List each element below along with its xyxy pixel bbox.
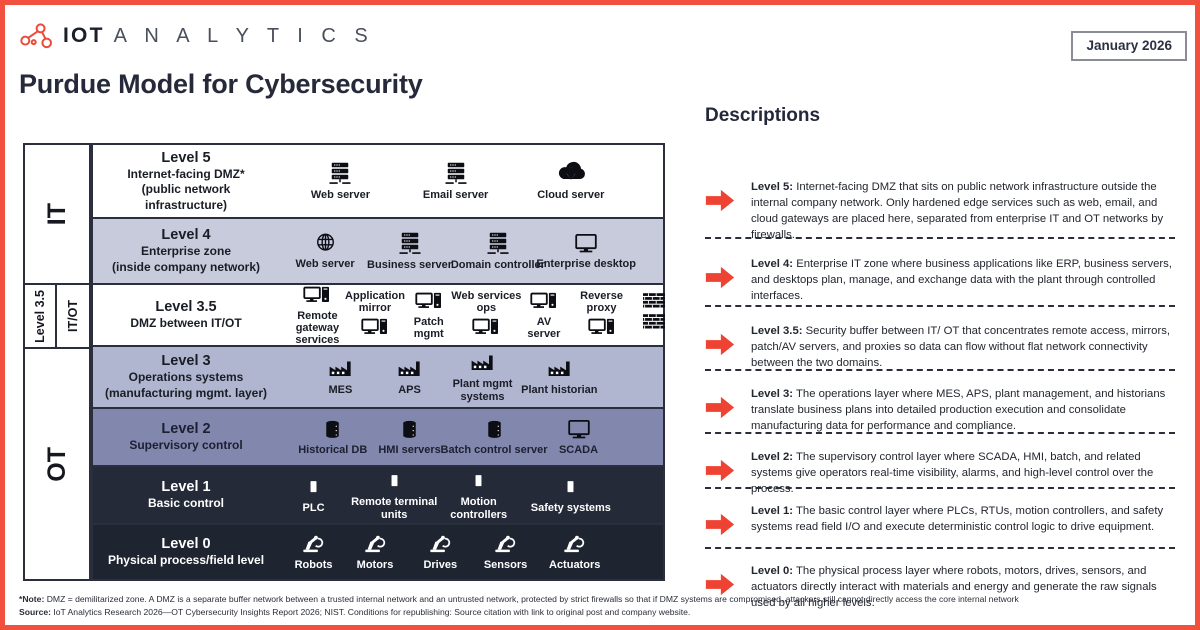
component-label: Web server — [311, 189, 370, 201]
right-arrow-icon — [705, 175, 751, 217]
level-3-components: MES APS Plant mgmt systems Plant histori… — [279, 347, 663, 407]
side-label-it-text: IT — [43, 203, 72, 225]
description-lead: Level 3: — [751, 388, 793, 400]
level-3-5-label: Level 3.5DMZ between IT/OT — [93, 285, 279, 345]
description-lead: Level 5: — [751, 181, 793, 193]
description-text: Level 5: Internet-facing DMZ that sits o… — [751, 175, 1175, 243]
description-row-level-3: Level 3: The operations layer where MES,… — [705, 382, 1175, 434]
component-label: Business server — [367, 259, 452, 271]
level-5-subtitle-line: Internet-facing DMZ* — [127, 167, 244, 183]
factory-icon — [326, 357, 355, 382]
domain-side-column: IT Level 3.5 IT/OT OT — [23, 143, 91, 581]
component-email-server[interactable]: Email server — [401, 145, 511, 217]
component-label: Enterprise desktop — [536, 258, 636, 270]
description-body: Security buffer between IT/ OT that conc… — [751, 325, 1170, 369]
brand-iot-text: IOT — [63, 24, 105, 48]
component-batch-control-server[interactable]: Batch control server — [435, 409, 553, 465]
desktop-tower-icon — [529, 290, 559, 314]
page-title: Purdue Model for Cybersecurity — [19, 69, 423, 100]
component-label: Patch mgmt — [414, 316, 444, 341]
footnote-source: Source: IoT Analytics Research 2026—OT C… — [19, 606, 1184, 619]
component-reverse-proxy[interactable]: Reverse proxy — [571, 285, 633, 345]
right-arrow-icon — [705, 445, 751, 487]
iot-network-logo-icon — [19, 23, 53, 49]
robot-arm-icon — [426, 532, 455, 557]
component-label: APS — [398, 384, 421, 396]
desktop-tower-icon — [587, 316, 617, 340]
tower-pc-icon — [305, 475, 322, 500]
component-robots[interactable]: Robots — [283, 525, 345, 579]
footnote-note: *Note: DMZ = demilitarized zone. A DMZ i… — [19, 593, 1184, 606]
description-row-level-1: Level 1: The basic control layer where P… — [705, 499, 1175, 541]
footer-notes: *Note: DMZ = demilitarized zone. A DMZ i… — [19, 593, 1184, 619]
description-lead: Level 1: — [751, 505, 793, 517]
level-row-level-3[interactable]: Level 3Operations systems(manufacturing … — [91, 347, 665, 409]
database-icon — [482, 418, 507, 442]
description-body: Internet-facing DMZ that sits on public … — [751, 181, 1163, 241]
description-lead: Level 3.5: — [751, 325, 803, 337]
component-label: PLC — [303, 502, 325, 514]
descriptions-title: Descriptions — [705, 105, 1175, 127]
component-aps[interactable]: APS — [375, 347, 445, 407]
description-body: Enterprise IT zone where business applic… — [751, 258, 1172, 302]
component-label: SCADA — [559, 444, 598, 456]
description-text: Level 3: The operations layer where MES,… — [751, 382, 1175, 434]
desktop-tower-icon — [471, 316, 501, 340]
footnote-source-text: IoT Analytics Research 2026—OT Cybersecu… — [51, 607, 690, 617]
component-label: Remote terminal units — [351, 496, 437, 521]
monitor-icon — [565, 418, 593, 442]
component-scada[interactable]: SCADA — [547, 409, 611, 465]
component-label: MES — [329, 384, 353, 396]
level-row-level-3-5[interactable]: Level 3.5DMZ between IT/OT Remote gatewa… — [91, 285, 665, 347]
level-1-title: Level 1 — [161, 478, 210, 496]
component-web-server[interactable]: Web server — [285, 145, 395, 217]
component-label: Email server — [423, 189, 488, 201]
right-arrow-icon — [705, 252, 751, 294]
component-label: Motors — [357, 559, 394, 571]
tower-pc-icon — [470, 469, 487, 494]
component-label: Motion controllers — [450, 496, 507, 521]
level-3-subtitle-line: (manufacturing mgmt. layer) — [105, 386, 267, 402]
right-arrow-icon — [705, 499, 751, 541]
component-web-server[interactable]: Web server — [279, 219, 371, 283]
level-row-level-5[interactable]: Level 5Internet-facing DMZ*(public netwo… — [91, 143, 665, 219]
side-label-itot-text: IT/OT — [66, 300, 80, 332]
factory-icon — [395, 357, 424, 382]
description-row-level-4: Level 4: Enterprise IT zone where busine… — [705, 252, 1175, 304]
component-label: Sensors — [484, 559, 527, 571]
level-0-components: Robots Motors Drives — [279, 525, 663, 579]
desktop-tower-icon — [414, 290, 444, 314]
component-motion-controllers[interactable]: Motion controllers — [437, 467, 521, 523]
description-row-level-2: Level 2: The supervisory control layer w… — [705, 445, 1175, 497]
level-3-subtitle-line: Operations systems — [129, 370, 244, 386]
component-label: Safety systems — [531, 502, 611, 514]
component-enterprise-desktop[interactable]: Enterprise desktop — [526, 219, 646, 283]
component-label: Plant historian — [521, 384, 597, 396]
component-label: Actuators — [549, 559, 600, 571]
side-label-level35-left: Level 3.5 — [25, 285, 57, 347]
level-2-label: Level 2Supervisory control — [93, 409, 279, 465]
component-motors[interactable]: Motors — [344, 525, 406, 579]
level-0-subtitle-line: Physical process/field level — [108, 553, 264, 569]
component-plc[interactable]: PLC — [290, 467, 338, 523]
description-lead: Level 2: — [751, 451, 793, 463]
component-safety-systems[interactable]: Safety systems — [519, 467, 623, 523]
level-row-level-0[interactable]: Level 0Physical process/field level Robo… — [91, 525, 665, 581]
side-label-level35: Level 3.5 IT/OT — [23, 285, 91, 347]
component-plant-historian[interactable]: Plant historian — [511, 347, 607, 407]
brand-header: IOT A N A L Y T I C S — [19, 23, 374, 49]
description-text: Level 1: The basic control layer where P… — [751, 499, 1175, 535]
description-row-level-3.5: Level 3.5: Security buffer between IT/ O… — [705, 319, 1175, 371]
component-label: Reverse proxy — [580, 290, 623, 315]
footnote-source-lead: Source: — [19, 607, 51, 617]
descriptions-panel: Descriptions Level 5: Internet-facing DM… — [705, 105, 1175, 607]
component-label: Drives — [423, 559, 457, 571]
component-historical-db[interactable]: Historical DB — [289, 409, 377, 465]
component-remote-terminal-units[interactable]: Remote terminal units — [339, 467, 449, 523]
side-label-itot-right: IT/OT — [57, 285, 89, 347]
footnote-note-lead: *Note: — [19, 594, 44, 604]
purdue-matrix: IT Level 3.5 IT/OT OT Level 5Internet-fa… — [23, 143, 665, 581]
component-label: Application mirror — [345, 290, 405, 315]
level-3-5-title: Level 3.5 — [155, 298, 216, 316]
component-label: Cloud server — [537, 189, 604, 201]
database-icon — [320, 418, 345, 442]
level-2-subtitle-line: Supervisory control — [129, 438, 242, 454]
server-rack-icon — [441, 161, 471, 187]
component-application-mirror[interactable]: Application mirror — [342, 285, 408, 345]
level-rows: Level 5Internet-facing DMZ*(public netwo… — [91, 143, 665, 581]
component-label: AV server — [527, 316, 560, 341]
side-label-ot-text: OT — [43, 447, 72, 482]
level-3-5-components: Remote gateway services Application mirr… — [279, 285, 663, 345]
robot-arm-icon — [299, 532, 328, 557]
cloud-download-icon — [555, 160, 587, 187]
description-lead: Level 0: — [751, 565, 793, 577]
component-cloud-server[interactable]: Cloud server — [516, 145, 626, 217]
level-2-components: Historical DB HMI servers Batch control … — [279, 409, 663, 465]
server-rack-icon — [325, 161, 355, 187]
level-row-level-4[interactable]: Level 4Enterprise zone(inside company ne… — [91, 219, 665, 285]
description-divider — [705, 547, 1175, 549]
level-row-level-2[interactable]: Level 2Supervisory control Historical DB… — [91, 409, 665, 467]
component-label: HMI servers — [378, 444, 440, 456]
component-av-server[interactable]: AV server — [516, 285, 572, 345]
level-1-subtitle-line: Basic control — [148, 496, 224, 512]
description-body: The basic control layer where PLCs, RTUs… — [751, 505, 1163, 533]
level-4-label: Level 4Enterprise zone(inside company ne… — [93, 219, 279, 283]
level-1-label: Level 1Basic control — [93, 467, 279, 523]
factory-icon — [468, 351, 497, 376]
level-5-label: Level 5Internet-facing DMZ*(public netwo… — [93, 145, 279, 217]
server-rack-icon — [483, 231, 513, 257]
level-5-components: Web server Email server Cloud server — [279, 145, 663, 217]
robot-arm-icon — [560, 532, 589, 557]
globe-icon — [312, 231, 339, 256]
brand-analytics-text: A N A L Y T I C S — [114, 25, 375, 48]
description-text: Level 2: The supervisory control layer w… — [751, 445, 1175, 497]
date-badge: January 2026 — [1071, 31, 1187, 61]
description-text: Level 3.5: Security buffer between IT/ O… — [751, 319, 1175, 371]
factory-icon — [545, 357, 574, 382]
description-row-level-5: Level 5: Internet-facing DMZ that sits o… — [705, 175, 1175, 243]
level-3-title: Level 3 — [161, 352, 210, 370]
description-divider — [705, 305, 1175, 307]
right-arrow-icon — [705, 382, 751, 424]
component-label: Robots — [295, 559, 333, 571]
side-label-it: IT — [23, 143, 91, 285]
component-label: Plant mgmt systems — [453, 378, 513, 403]
component-label: Web server — [296, 258, 355, 270]
footnote-note-text: DMZ = demilitarized zone. A DMZ is a sep… — [44, 594, 1018, 604]
description-body: The operations layer where MES, APS, pla… — [751, 388, 1165, 432]
level-1-components: PLC Remote terminal units Motion control… — [279, 467, 663, 523]
monitor-icon — [572, 232, 600, 256]
database-icon — [397, 418, 422, 442]
level-5-subtitle-line: (public network infrastructure) — [99, 182, 273, 213]
level-4-subtitle-line: (inside company network) — [112, 260, 260, 276]
component-actuators[interactable]: Actuators — [538, 525, 612, 579]
component-mes[interactable]: MES — [305, 347, 375, 407]
level-4-title: Level 4 — [161, 226, 210, 244]
desktop-tower-icon — [302, 284, 332, 308]
level-0-label: Level 0Physical process/field level — [93, 525, 279, 579]
level-0-title: Level 0 — [161, 535, 210, 553]
firewall-brick-icon — [643, 285, 665, 345]
robot-arm-icon — [491, 532, 520, 557]
description-divider — [705, 369, 1175, 371]
component-label: Web services ops — [451, 290, 521, 315]
server-rack-icon — [395, 231, 425, 257]
level-3-label: Level 3Operations systems(manufacturing … — [93, 347, 279, 407]
description-divider — [705, 432, 1175, 434]
tower-pc-icon — [562, 475, 579, 500]
level-2-title: Level 2 — [161, 420, 210, 438]
desktop-tower-icon — [360, 316, 390, 340]
component-label: Batch control server — [441, 444, 548, 456]
component-drives[interactable]: Drives — [411, 525, 469, 579]
description-lead: Level 4: — [751, 258, 793, 270]
side-label-ot: OT — [23, 347, 91, 581]
tower-pc-icon — [386, 469, 403, 494]
description-divider — [705, 237, 1175, 239]
side-label-level35-text: Level 3.5 — [33, 290, 47, 343]
component-label: Historical DB — [298, 444, 367, 456]
level-4-subtitle-line: Enterprise zone — [141, 244, 231, 260]
level-5-title: Level 5 — [161, 149, 210, 167]
robot-arm-icon — [361, 532, 390, 557]
level-3-5-subtitle-line: DMZ between IT/OT — [130, 316, 241, 332]
description-text: Level 4: Enterprise IT zone where busine… — [751, 252, 1175, 304]
component-sensors[interactable]: Sensors — [473, 525, 539, 579]
level-row-level-1[interactable]: Level 1Basic control PLC Remote terminal… — [91, 467, 665, 525]
right-arrow-icon — [705, 319, 751, 361]
level-4-components: Web server Business server Domain contro… — [279, 219, 663, 283]
description-divider — [705, 487, 1175, 489]
